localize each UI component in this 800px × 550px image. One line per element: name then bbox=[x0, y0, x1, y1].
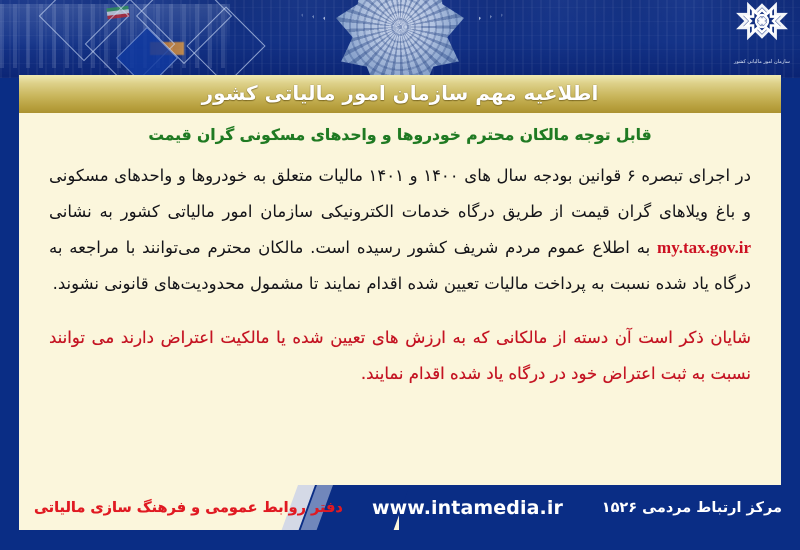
persian-star-rosette-icon bbox=[305, 0, 495, 78]
ina-tax-emblem-icon bbox=[734, 2, 790, 58]
header-banner: سازمان امور مالیاتی کشور bbox=[0, 0, 800, 78]
public-relations-office-label: دفتر روابط عمومی و فرهنگ سازی مالیاتی bbox=[34, 485, 302, 530]
organization-logo: سازمان امور مالیاتی کشور bbox=[730, 2, 794, 74]
paragraph-1-part-b: به اطلاع عموم مردم شریف کشور رسیده است. … bbox=[49, 238, 751, 293]
logo-caption: سازمان امور مالیاتی کشور bbox=[730, 59, 794, 66]
paragraph-1-part-a: در اجرای تبصره ۶ قوانین بودجه سال های ۱۴… bbox=[49, 166, 751, 221]
announcement-subtitle: قابل توجه مالکان محترم خودروها و واحدهای… bbox=[49, 122, 751, 148]
announcement-title-bar: اطلاعیه مهم سازمان امور مالیاتی کشور bbox=[19, 75, 781, 113]
page-title: اطلاعیه مهم سازمان امور مالیاتی کشور bbox=[202, 83, 599, 105]
footer-website-link[interactable]: www.intamedia.ir bbox=[372, 485, 563, 530]
poster-footer: دفتر روابط عمومی و فرهنگ سازی مالیاتی ww… bbox=[0, 485, 800, 550]
announcement-body: قابل توجه مالکان محترم خودروها و واحدهای… bbox=[19, 113, 781, 485]
tax-portal-url-link[interactable]: my.tax.gov.ir bbox=[657, 230, 751, 266]
announcement-paragraph-1: در اجرای تبصره ۶ قوانین بودجه سال های ۱۴… bbox=[49, 158, 751, 302]
contact-center-label: مرکز ارتباط مردمی ۱۵۲۶ bbox=[602, 485, 782, 530]
announcement-paragraph-2: شایان ذکر است آن دسته از مالکانی که به ا… bbox=[49, 320, 751, 392]
tax-announcement-poster: سازمان امور مالیاتی کشور اطلاعیه مهم ساز… bbox=[0, 0, 800, 550]
